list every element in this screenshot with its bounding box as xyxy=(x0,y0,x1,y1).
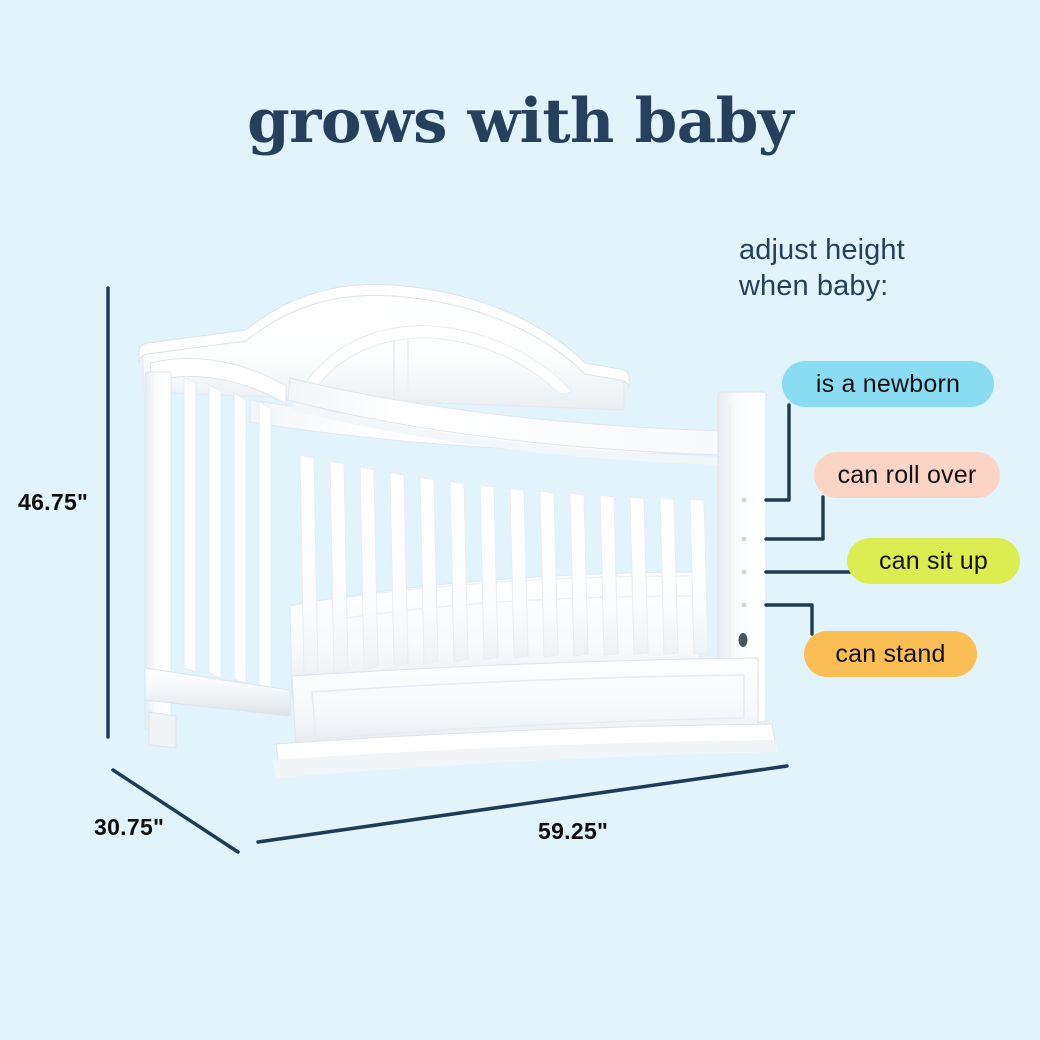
callout-pill-label: can roll over xyxy=(838,461,977,490)
callout-connectors xyxy=(0,0,1040,1040)
infographic-canvas: grows with baby xyxy=(0,0,1040,1040)
callout-pill-label: can sit up xyxy=(879,547,988,576)
callout-pill-label: is a newborn xyxy=(816,370,960,399)
connector-line-stand xyxy=(766,605,812,634)
callout-pill-is-a-newborn[interactable]: is a newborn xyxy=(782,361,994,407)
callout-pill-can-stand[interactable]: can stand xyxy=(804,631,977,677)
callout-pill-label: can stand xyxy=(835,640,945,669)
connector-line-roll-over xyxy=(766,497,823,539)
callout-pill-can-sit-up[interactable]: can sit up xyxy=(847,538,1020,584)
connector-line-newborn xyxy=(766,405,789,500)
callout-pill-can-roll-over[interactable]: can roll over xyxy=(814,452,1000,498)
